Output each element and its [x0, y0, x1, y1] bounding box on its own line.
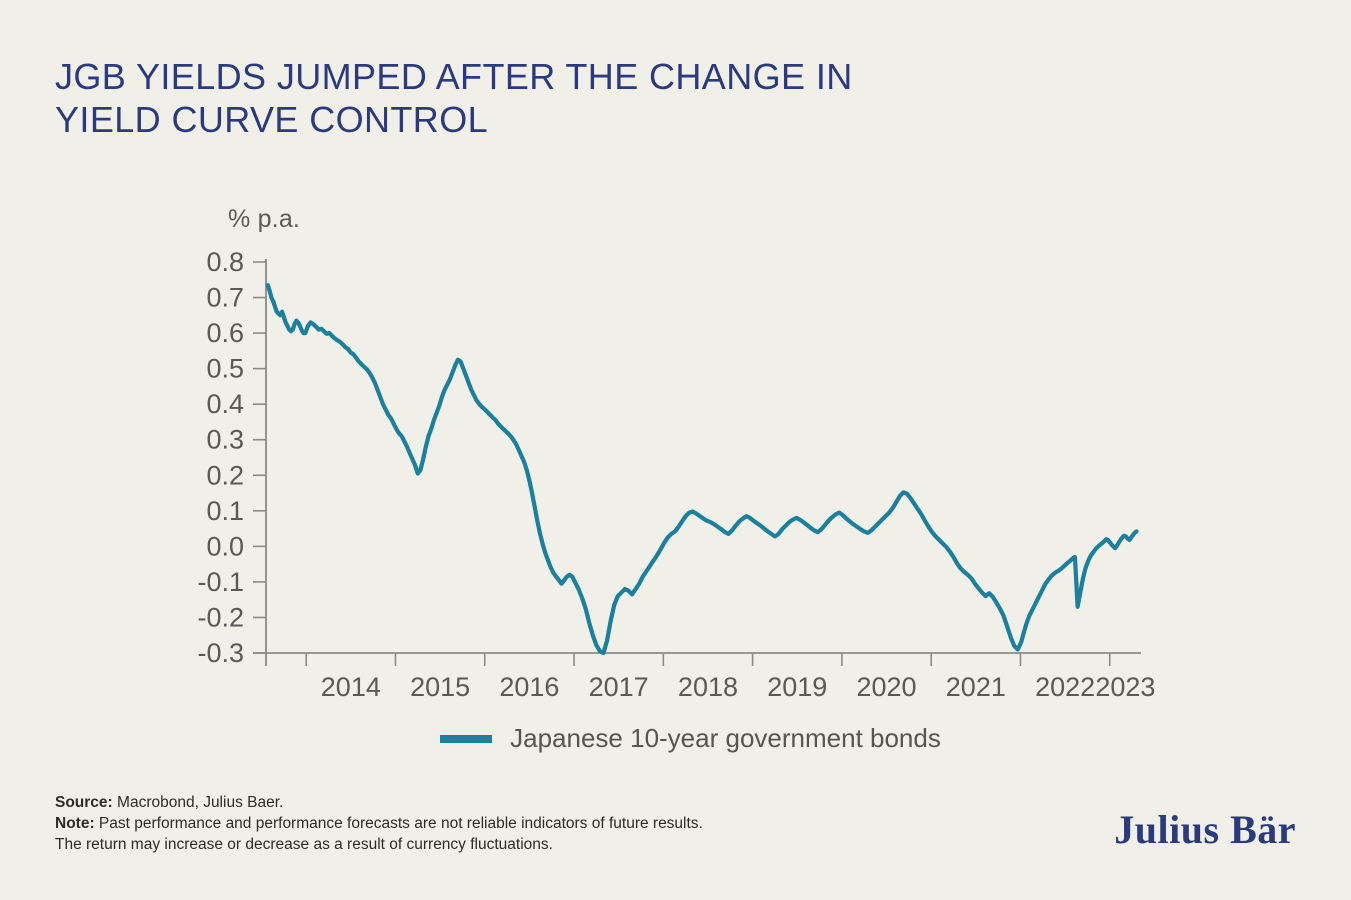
x-axis-ticks	[306, 653, 1110, 666]
y-tick-label: 0.3	[206, 425, 244, 455]
y-tick-label: -0.3	[197, 638, 244, 668]
footer-source-label: Source:	[55, 794, 113, 811]
x-tick-label: 2023	[1095, 672, 1155, 702]
title-line-2: YIELD CURVE CONTROL	[55, 98, 1055, 141]
y-tick-label: 0.8	[206, 247, 244, 277]
x-tick-label: 2016	[499, 672, 559, 702]
series-lines	[268, 285, 1137, 653]
title-line-1: JGB YIELDS JUMPED AFTER THE CHANGE IN	[55, 55, 1055, 98]
y-axis-ticks	[253, 262, 266, 653]
legend-swatch-icon	[440, 735, 492, 743]
footer-source-line: Source: Macrobond, Julius Baer.	[55, 792, 703, 813]
x-tick-label: 2015	[410, 672, 470, 702]
y-tick-label: 0.7	[206, 283, 244, 313]
footer-source-text: Macrobond, Julius Baer.	[117, 794, 283, 811]
y-tick-label: 0.6	[206, 318, 244, 348]
x-tick-label: 2014	[321, 672, 381, 702]
footer-notes: Source: Macrobond, Julius Baer. Note: Pa…	[55, 792, 703, 855]
footer-note-line-2: The return may increase or decrease as a…	[55, 834, 703, 855]
y-tick-label: 0.5	[206, 354, 244, 384]
y-tick-label: 0.2	[206, 460, 244, 490]
footer-note-line: Note: Past performance and performance f…	[55, 813, 703, 834]
x-tick-label: 2021	[946, 672, 1006, 702]
x-tick-label: 2018	[678, 672, 738, 702]
page-title: JGB YIELDS JUMPED AFTER THE CHANGE IN YI…	[55, 55, 1055, 141]
footer-note-text: Past performance and performance forecas…	[99, 815, 703, 832]
y-tick-label: 0.0	[206, 531, 244, 561]
legend-entry: Japanese 10-year government bonds	[440, 723, 941, 754]
y-tick-label: -0.1	[197, 567, 244, 597]
x-tick-label: 2020	[856, 672, 916, 702]
x-tick-label: 2019	[767, 672, 827, 702]
y-axis-unit-label: % p.a.	[228, 205, 300, 234]
julius-baer-logo: Julius Bär	[1114, 806, 1296, 853]
y-tick-label: -0.2	[197, 602, 244, 632]
footer-note-label: Note:	[55, 815, 95, 832]
chart-page: JGB YIELDS JUMPED AFTER THE CHANGE IN YI…	[0, 0, 1351, 900]
x-tick-label: 2022	[1035, 672, 1095, 702]
x-tick-label: 2017	[589, 672, 649, 702]
chart-legend: Japanese 10-year government bonds	[0, 723, 1351, 754]
axis-lines	[253, 259, 1141, 666]
y-tick-label: 0.1	[206, 496, 244, 526]
x-axis-labels: 2014201520162017201820192020202120222023	[321, 672, 1156, 702]
y-axis-labels: 0.80.70.60.50.40.30.20.10.0-0.1-0.2-0.3	[197, 247, 244, 668]
legend-label: Japanese 10-year government bonds	[510, 723, 941, 754]
y-tick-label: 0.4	[206, 389, 244, 419]
series-line	[268, 285, 1137, 653]
